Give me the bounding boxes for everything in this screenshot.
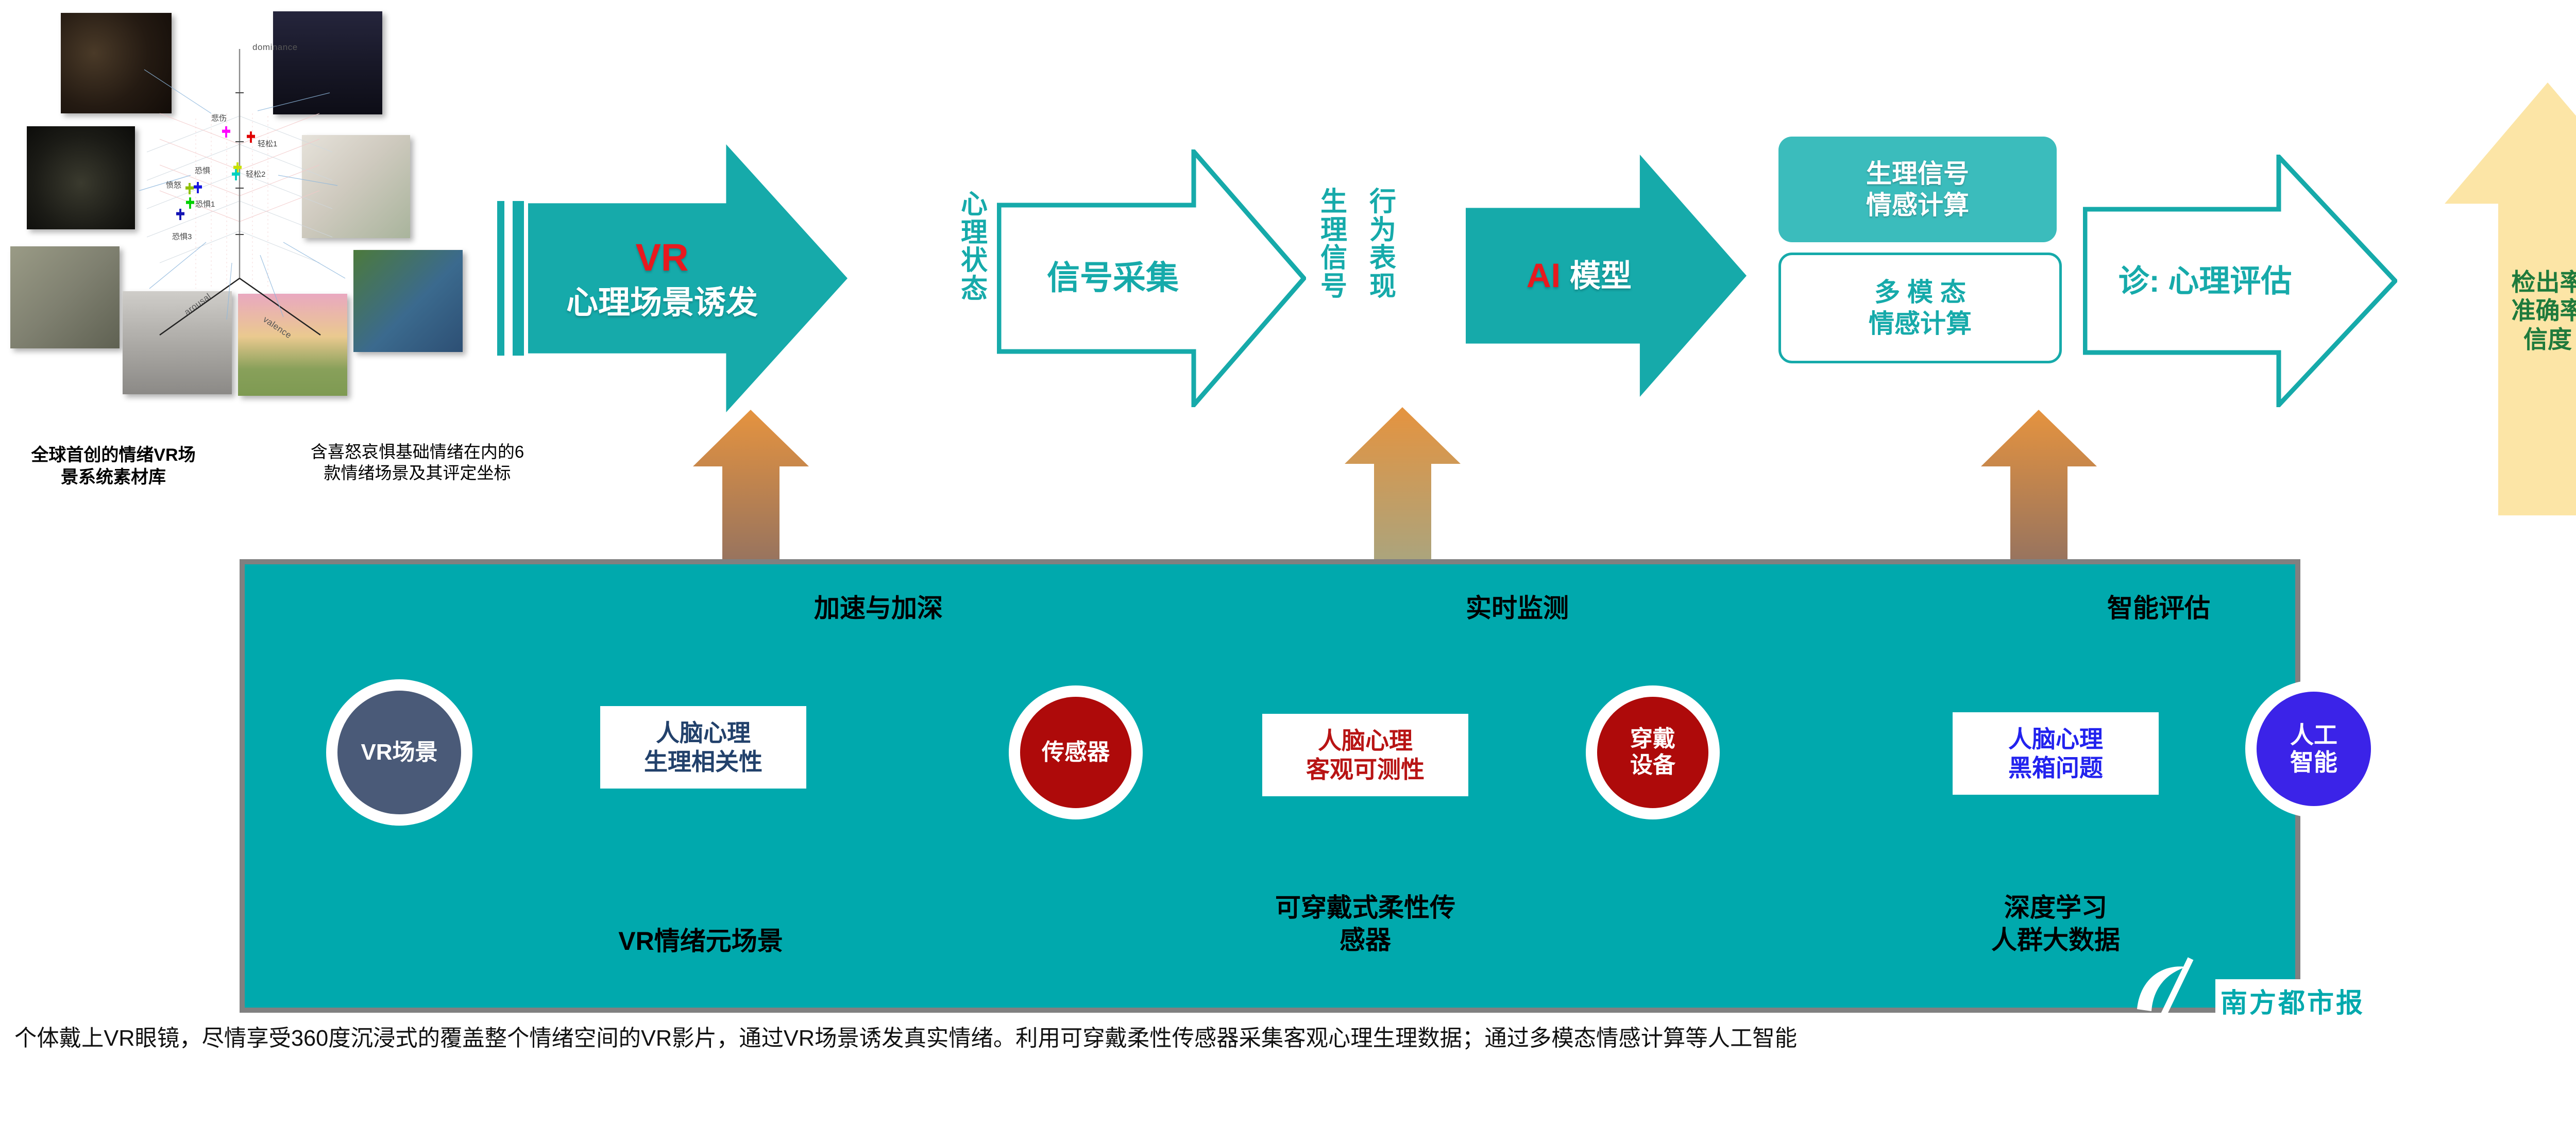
watermark-nvideo: N视频 (2517, 974, 2576, 1019)
plot-label-2: 恐惧 (195, 165, 210, 176)
panel-footer-deep-learning: 深度学习 人群大数据 (1927, 892, 2184, 956)
result-box-physiological-affective-computing[interactable]: 生理信号 情感计算 (1778, 137, 2057, 242)
flow-arrow-ai-model-label: AI 模型 (1471, 180, 1687, 371)
flow-connector-behavior: 行为表现 (1368, 188, 1398, 300)
white-box-brain-physio-correlation[interactable]: 人脑心理 生理相关性 (600, 706, 806, 789)
wbox-1-line1: 人脑心理 (1318, 726, 1413, 755)
panel-footer-wearable-sensor: 可穿戴式柔性传 感器 (1236, 892, 1494, 956)
thumb-tunnel-creature (27, 126, 135, 229)
signal-collection-title: 信号采集 (1047, 259, 1179, 297)
vr-arrow-tail-bars (497, 201, 527, 356)
wbox-0-line2: 生理相关性 (644, 747, 762, 776)
gallery-caption-right: 含喜怒哀惧基础情绪在内的6 款情绪场景及其评定坐标 (242, 441, 592, 484)
wbox-1-line2: 客观可测性 (1306, 755, 1425, 784)
wbox-2-line1: 人脑心理 (2008, 725, 2103, 753)
plot-label-4: 愤怒 (166, 179, 181, 190)
flow-arrow-vr-induction-label: VR 心理场景诱发 (533, 173, 791, 384)
plot-label-3: 轻松2 (246, 169, 265, 179)
wbox-0-line1: 人脑心理 (656, 718, 751, 747)
vr-subtitle: 心理场景诱发 (566, 284, 758, 321)
thumb-forest-lake (353, 250, 463, 352)
panel-footer-vr-meta-scene: VR情绪元场景 (556, 925, 845, 958)
result-box-multimodal-affective-computing[interactable]: 多 模 态 情感计算 (1778, 253, 2062, 363)
flow-arrow-signal-collection-label: 信号采集 (1010, 149, 1216, 407)
result-1-line2: 情感计算 (1869, 308, 1972, 340)
outcome-line3: 信度 (2465, 325, 2576, 354)
result-0-line2: 情感计算 (1866, 190, 1969, 221)
vr-title: VR (636, 236, 689, 279)
result-0-line1: 生理信号 (1866, 158, 1969, 190)
ai-subtitle: 模型 (1570, 258, 1632, 294)
watermark-nandu: 南方都市报 (2215, 979, 2370, 1022)
ai-title: AI (1527, 256, 1561, 295)
result-1-line1: 多 模 态 (1874, 277, 1966, 308)
thumb-food-plate (10, 246, 120, 348)
panel-title-realtime: 实时监测 (1466, 588, 1569, 625)
outcome-line2: 准确率 (2465, 296, 2576, 325)
plot-label-1: 轻松1 (258, 138, 277, 149)
wbox-2-line2: 黑箱问题 (2008, 753, 2103, 782)
white-box-objective-measurability[interactable]: 人脑心理 客观可测性 (1262, 714, 1468, 796)
circle-artificial-intelligence[interactable]: 人工 智能 (2257, 692, 2371, 806)
flow-connector-physio-signal: 生理信号 (1319, 188, 1349, 300)
vad-3d-scatter-plot: dominance arousal valence 悲伤 轻松1 恐惧 轻松2 … (129, 21, 350, 381)
watermark-n-logo-icon (2437, 959, 2514, 1026)
bottom-caption: 个体戴上VR眼镜，尽情享受360度沉浸式的覆盖整个情绪空间的VR影片，通过VR场… (14, 1019, 2576, 1052)
white-box-black-box-problem[interactable]: 人脑心理 黑箱问题 (1953, 712, 2159, 795)
axis-label-dominance: dominance (252, 42, 298, 53)
outcome-line1: 检出率 (2465, 268, 2576, 296)
vr-scene-gallery: dominance arousal valence 悲伤 轻松1 恐惧 轻松2 … (0, 0, 495, 521)
psych-assessment-title: 诊: 心理评估 (2119, 263, 2292, 299)
flow-connector-psych-state: 心理状态 (959, 191, 989, 303)
plot-label-7: 恐惧3 (172, 231, 192, 242)
circle-sensor[interactable]: 传感器 (1020, 697, 1131, 808)
plot-label-5: 恐惧1 (195, 198, 215, 209)
panel-title-accelerate: 加速与加深 (814, 588, 943, 625)
flow-arrow-psych-assessment-label: 诊: 心理评估 (2092, 155, 2318, 407)
circle-vr-scene[interactable]: VR场景 (337, 691, 461, 814)
watermark-swoosh-icon (2133, 948, 2215, 1020)
panel-title-intelligent: 智能评估 (2107, 588, 2210, 625)
tail-bar-2 (513, 201, 524, 356)
outcome-up-arrow-label: 检出率 准确率 信度 (2465, 268, 2576, 354)
circle-wearable-device[interactable]: 穿戴 设备 (1597, 697, 1708, 808)
plot-label-0: 悲伤 (211, 112, 227, 123)
gallery-caption-left: 全球首创的情绪VR场 景系统素材库 (10, 444, 216, 488)
tail-bar-1 (497, 201, 504, 356)
